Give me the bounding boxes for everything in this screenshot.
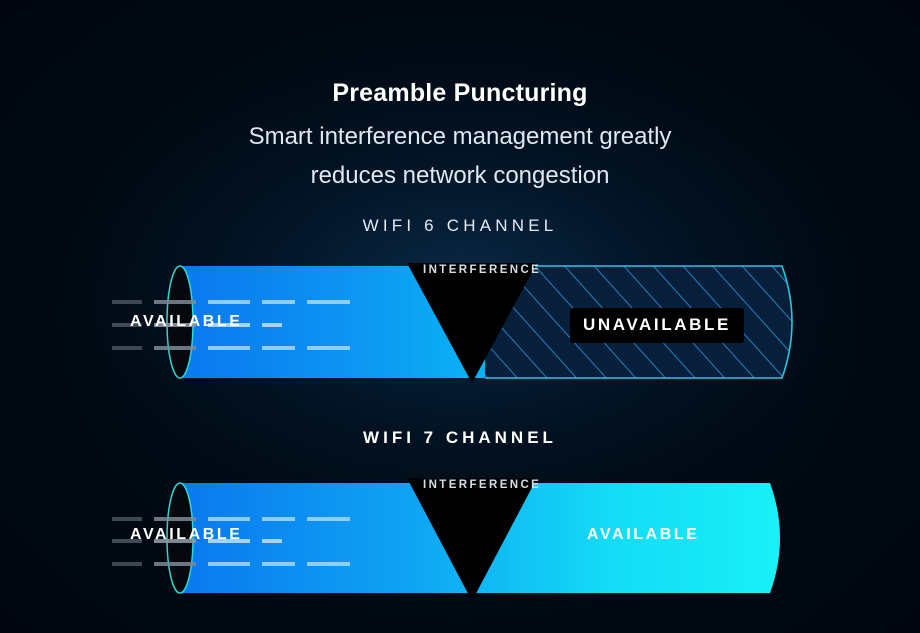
page-subtitle: Smart interference management greatly re… [0, 118, 920, 196]
wifi6-unavailable-label: UNAVAILABLE [570, 308, 744, 343]
subtitle-line-1: Smart interference management greatly [0, 118, 920, 157]
wifi6-available-label: AVAILABLE [130, 313, 243, 331]
header: Preamble Puncturing Smart interference m… [0, 78, 920, 196]
wifi6-interference-label: INTERFERENCE [423, 264, 541, 276]
wifi6-channel-label: WIFI 6 CHANNEL [0, 216, 920, 236]
wifi7-channel-label: WIFI 7 CHANNEL [0, 428, 920, 448]
wifi7-available-right-label: AVAILABLE [587, 526, 700, 544]
subtitle-line-2: reduces network congestion [0, 157, 920, 196]
wifi7-interference-label: INTERFERENCE [423, 479, 541, 491]
wifi7-available-left-label: AVAILABLE [130, 526, 243, 544]
page-title: Preamble Puncturing [0, 78, 920, 108]
infographic-canvas: Preamble Puncturing Smart interference m… [0, 0, 920, 633]
